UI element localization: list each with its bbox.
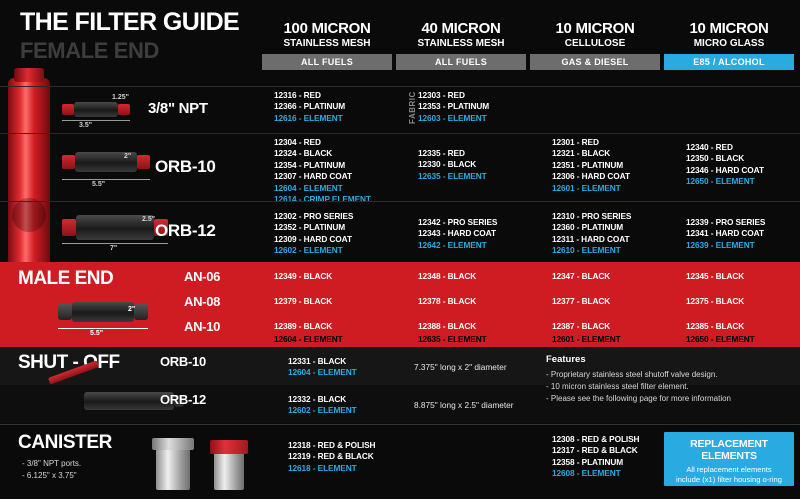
part-number: 12308 - RED & POLISH bbox=[552, 434, 639, 445]
dimension-diameter: 2" bbox=[124, 153, 131, 160]
cell-canister-100micron: 12318 - RED & POLISH 12319 - RED & BLACK… bbox=[288, 440, 375, 474]
part-number-element: 12601 - ELEMENT bbox=[552, 334, 621, 345]
row-divider bbox=[0, 424, 800, 425]
canister-note-0: - 3/8" NPT ports. bbox=[22, 458, 81, 469]
replacement-body: All replacement elements include (x1) fi… bbox=[668, 465, 790, 485]
part-number: 12345 - BLACK bbox=[686, 271, 744, 282]
cell-orb12-10micron-glass: 12339 - PRO SERIES 12341 - HARD COAT 126… bbox=[686, 217, 765, 251]
column-material: MICRO GLASS bbox=[664, 38, 794, 49]
section-title-canister: CANISTER bbox=[18, 432, 112, 454]
column-header-2: 10 MICRON CELLULOSE GAS & DIESEL bbox=[530, 20, 660, 70]
table-row-orb12: 2.5" 7" ORB-12 12302 - PRO SERIES 12352 … bbox=[0, 201, 800, 261]
part-number: 12309 - HARD COAT bbox=[274, 234, 353, 245]
part-number: 12379 - BLACK bbox=[274, 296, 332, 307]
column-tag: ALL FUELS bbox=[262, 54, 392, 70]
dimension-length: 5.5" bbox=[92, 181, 105, 188]
cell-orb12-100micron: 12302 - PRO SERIES 12352 - PLATINUM 1230… bbox=[274, 211, 353, 257]
part-number-element: 12608 - ELEMENT bbox=[552, 468, 639, 479]
dimension-length: 7" bbox=[110, 245, 117, 252]
page-header: THE FILTER GUIDE FEMALE END 100 MICRON S… bbox=[0, 0, 800, 82]
part-number: 12331 - BLACK bbox=[288, 356, 346, 367]
row-label-npt: 3/8" NPT bbox=[148, 100, 208, 117]
dimension-rule bbox=[62, 179, 150, 180]
column-micron: 100 MICRON bbox=[262, 20, 392, 37]
part-number: 12335 - RED bbox=[418, 148, 487, 159]
dimension-rule bbox=[62, 120, 130, 121]
part-number: 12347 - BLACK bbox=[552, 271, 610, 282]
canister-illustration-red bbox=[208, 432, 268, 492]
part-number-element: 12635 - ELEMENT bbox=[418, 171, 487, 182]
dimension-rule bbox=[58, 328, 148, 329]
cell-orb10-100micron: 12304 - RED 12324 - BLACK 12354 - PLATIN… bbox=[274, 137, 371, 205]
part-number: 12350 - BLACK bbox=[686, 153, 764, 164]
part-number-element: 12604 - ELEMENT bbox=[274, 334, 343, 345]
column-micron: 40 MICRON bbox=[396, 20, 526, 37]
column-header-3: 10 MICRON MICRO GLASS E85 / ALCOHOL bbox=[664, 20, 794, 70]
shutoff-dims-orb12: 8.875" long x 2.5" diameter bbox=[414, 400, 514, 410]
male-end-section: MALE END 2" 5.5" AN-06 AN-08 AN-10 12349… bbox=[0, 262, 800, 347]
part-number: 12366 - PLATINUM bbox=[274, 101, 345, 112]
part-number-element: 12604 - ELEMENT bbox=[274, 183, 371, 194]
cell-orb12-40micron: 12342 - PRO SERIES 12343 - HARD COAT 126… bbox=[418, 217, 497, 251]
feature-item: - Proprietary stainless steel shutoff va… bbox=[546, 369, 718, 381]
part-number: 12387 - BLACK bbox=[552, 321, 610, 332]
cell-orb10-40micron: 12335 - RED 12330 - BLACK 12635 - ELEMEN… bbox=[418, 148, 487, 182]
column-header-0: 100 MICRON STAINLESS MESH ALL FUELS bbox=[262, 20, 392, 70]
part-number: 12358 - PLATINUM bbox=[552, 457, 639, 468]
row-label-shutoff-orb10: ORB-10 bbox=[160, 354, 206, 369]
part-number: 12353 - PLATINUM bbox=[418, 101, 489, 112]
part-number: 12378 - BLACK bbox=[418, 296, 476, 307]
dimension-length: 3.5" bbox=[79, 122, 92, 129]
part-number: 12351 - PLATINUM bbox=[552, 160, 630, 171]
part-number: 12330 - BLACK bbox=[418, 159, 487, 170]
part-number: 12341 - HARD COAT bbox=[686, 228, 765, 239]
section-title-female: FEMALE END bbox=[20, 38, 159, 64]
part-number: 12389 - BLACK bbox=[274, 321, 332, 332]
column-tag: E85 / ALCOHOL bbox=[664, 54, 794, 70]
row-label-orb10: ORB-10 bbox=[155, 157, 216, 177]
dimension-diameter: 1.25" bbox=[112, 94, 129, 101]
table-row-orb10: 2" 5.5" ORB-10 12304 - RED 12324 - BLACK… bbox=[0, 133, 800, 200]
page-title: THE FILTER GUIDE bbox=[20, 8, 239, 37]
shutoff-dims-orb10: 7.375" long x 2" diameter bbox=[414, 362, 507, 372]
row-label-an10: AN-10 bbox=[184, 319, 220, 334]
cell-npt-40micron: 12303 - RED 12353 - PLATINUM 12603 - ELE… bbox=[418, 90, 489, 124]
part-number-element: 12602 - ELEMENT bbox=[288, 405, 357, 416]
part-number: 12340 - RED bbox=[686, 142, 764, 153]
part-number: 12301 - RED bbox=[552, 137, 630, 148]
part-number: 12360 - PLATINUM bbox=[552, 222, 631, 233]
part-number: 12319 - RED & BLACK bbox=[288, 451, 375, 462]
part-number: 12354 - PLATINUM bbox=[274, 160, 371, 171]
part-number-element: 12650 - ELEMENT bbox=[686, 176, 764, 187]
column-tag: GAS & DIESEL bbox=[530, 54, 660, 70]
replacement-title: REPLACEMENT ELEMENTS bbox=[668, 438, 790, 462]
part-number-element: 12604 - ELEMENT bbox=[288, 367, 357, 378]
part-number-element: 12642 - ELEMENT bbox=[418, 240, 497, 251]
canister-illustration-polish bbox=[150, 432, 210, 492]
part-number: 12346 - HARD COAT bbox=[686, 165, 764, 176]
part-number: 12332 - BLACK bbox=[288, 394, 346, 405]
part-number: 12318 - RED & POLISH bbox=[288, 440, 375, 451]
row-label-shutoff-orb12: ORB-12 bbox=[160, 392, 206, 407]
part-number: 12307 - HARD COAT bbox=[274, 171, 371, 182]
filter-guide-page: THE FILTER GUIDE FEMALE END 100 MICRON S… bbox=[0, 0, 800, 499]
dimension-length: 5.5" bbox=[90, 330, 103, 337]
part-number-element: 12650 - ELEMENT bbox=[686, 334, 755, 345]
cell-canister-10micron: 12308 - RED & POLISH 12317 - RED & BLACK… bbox=[552, 434, 639, 480]
part-number: 12385 - BLACK bbox=[686, 321, 744, 332]
part-number-element: 12616 - ELEMENT bbox=[274, 113, 345, 124]
part-number: 12303 - RED bbox=[418, 90, 489, 101]
part-number: 12304 - RED bbox=[274, 137, 371, 148]
dimension-rule bbox=[62, 243, 168, 244]
part-number: 12310 - PRO SERIES bbox=[552, 211, 631, 222]
part-number: 12348 - BLACK bbox=[418, 271, 476, 282]
replacement-elements-callout: REPLACEMENT ELEMENTS All replacement ele… bbox=[664, 432, 794, 486]
part-number-element: 12610 - ELEMENT bbox=[552, 245, 631, 256]
row-label-an08: AN-08 bbox=[184, 294, 220, 309]
column-material: STAINLESS MESH bbox=[396, 38, 526, 49]
part-number: 12343 - HARD COAT bbox=[418, 228, 497, 239]
part-number: 12349 - BLACK bbox=[274, 271, 332, 282]
part-number-element: 12639 - ELEMENT bbox=[686, 240, 765, 251]
part-number: 12317 - RED & BLACK bbox=[552, 445, 639, 456]
part-number-element: 12635 - ELEMENT bbox=[418, 334, 487, 345]
part-number: 12321 - BLACK bbox=[552, 148, 630, 159]
canister-note-1: - 6.125" x 3.75" bbox=[22, 470, 77, 481]
dimension-diameter: 2" bbox=[128, 306, 135, 313]
part-number-element: 12602 - ELEMENT bbox=[274, 245, 353, 256]
row-label-orb12: ORB-12 bbox=[155, 221, 216, 241]
part-number-element: 12601 - ELEMENT bbox=[552, 183, 630, 194]
part-number: 12342 - PRO SERIES bbox=[418, 217, 497, 228]
section-title-male: MALE END bbox=[18, 268, 113, 290]
part-number: 12352 - PLATINUM bbox=[274, 222, 353, 233]
column-tag: ALL FUELS bbox=[396, 54, 526, 70]
part-number: 12377 - BLACK bbox=[552, 296, 610, 307]
part-number: 12316 - RED bbox=[274, 90, 345, 101]
cell-npt-100micron: 12316 - RED 12366 - PLATINUM 12616 - ELE… bbox=[274, 90, 345, 124]
cell-orb10-10micron-glass: 12340 - RED 12350 - BLACK 12346 - HARD C… bbox=[686, 142, 764, 188]
dimension-diameter: 2.5" bbox=[142, 216, 155, 223]
part-number-element: 12618 - ELEMENT bbox=[288, 463, 375, 474]
column-micron: 10 MICRON bbox=[664, 20, 794, 37]
column-material: STAINLESS MESH bbox=[262, 38, 392, 49]
part-number: 12306 - HARD COAT bbox=[552, 171, 630, 182]
features-title: Features bbox=[546, 354, 586, 365]
part-number-element: 12603 - ELEMENT bbox=[418, 113, 489, 124]
part-number: 12388 - BLACK bbox=[418, 321, 476, 332]
column-material: CELLULOSE bbox=[530, 38, 660, 49]
part-number: 12311 - HARD COAT bbox=[552, 234, 631, 245]
cell-orb12-10micron-cell: 12310 - PRO SERIES 12360 - PLATINUM 1231… bbox=[552, 211, 631, 257]
column-header-1: 40 MICRON STAINLESS MESH ALL FUELS bbox=[396, 20, 526, 70]
replacement-line2: All replacement elements bbox=[686, 465, 771, 474]
feature-item: - 10 micron stainless steel filter eleme… bbox=[546, 381, 689, 393]
side-label-fabric: FABRIC bbox=[408, 91, 417, 124]
feature-item: - Please see the following page for more… bbox=[546, 393, 731, 405]
part-number: 12302 - PRO SERIES bbox=[274, 211, 353, 222]
part-number: 12375 - BLACK bbox=[686, 296, 744, 307]
table-row-npt: 1.25" 3.5" 3/8" NPT 12316 - RED 12366 - … bbox=[0, 86, 800, 132]
part-number: 12324 - BLACK bbox=[274, 148, 371, 159]
replacement-line3: include (x1) filter housing o-ring bbox=[676, 475, 782, 484]
part-number: 12339 - PRO SERIES bbox=[686, 217, 765, 228]
cell-orb10-10micron-cell: 12301 - RED 12321 - BLACK 12351 - PLATIN… bbox=[552, 137, 630, 194]
column-micron: 10 MICRON bbox=[530, 20, 660, 37]
row-label-an06: AN-06 bbox=[184, 269, 220, 284]
